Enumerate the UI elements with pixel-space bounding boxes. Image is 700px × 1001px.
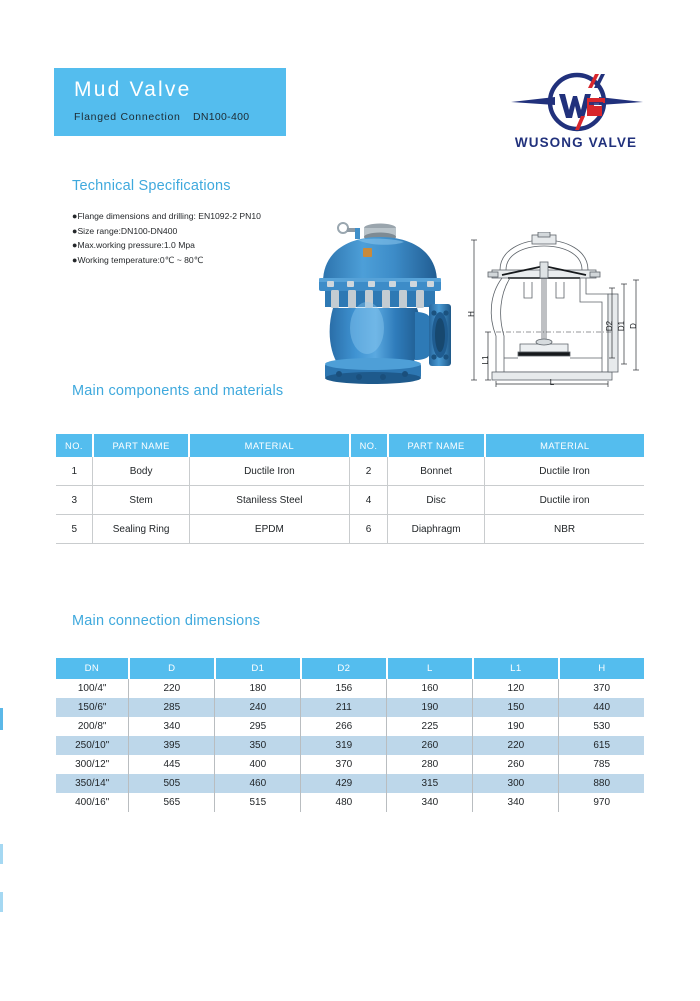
technical-drawing: H L1 L D2 D1 D <box>462 232 652 387</box>
cell-l: 315 <box>387 774 473 793</box>
product-photo <box>303 216 463 386</box>
col-header-d2: D2 <box>301 658 387 679</box>
dim-label-D2: D2 <box>605 320 614 331</box>
wusong-winged-circle-icon <box>509 72 645 134</box>
section-heading-dimensions: Main connection dimensions <box>72 613 260 629</box>
cell-h: 615 <box>559 736 644 755</box>
cell-l1: 260 <box>473 755 559 774</box>
cell-l: 225 <box>387 717 473 736</box>
table-row: 100/4" 220 180 156 160 120 370 <box>56 679 644 698</box>
cell-h: 970 <box>559 793 644 812</box>
dim-label-D: D <box>629 323 638 329</box>
product-title-banner: Mud Valve Flanged Connection DN100-400 <box>54 68 286 136</box>
cell-d1: 240 <box>215 698 301 717</box>
col-header-l: L <box>387 658 473 679</box>
cell-d1: 460 <box>215 774 301 793</box>
cell-d: 395 <box>129 736 215 755</box>
cell-no: 2 <box>350 457 388 486</box>
cell-l1: 300 <box>473 774 559 793</box>
datasheet-page: Mud Valve Flanged Connection DN100-400 W… <box>0 0 700 1001</box>
dimensions-table: DN D D1 D2 L L1 H 100/4" 220 180 156 160… <box>56 658 644 812</box>
dim-label-H: H <box>467 311 476 317</box>
cell-l1: 120 <box>473 679 559 698</box>
cell-d2: 319 <box>301 736 387 755</box>
table-row: 150/6" 285 240 211 190 150 440 <box>56 698 644 717</box>
col-header-part-right: PART NAME <box>388 434 485 457</box>
col-header-no-right: NO. <box>350 434 388 457</box>
table-row: 250/10" 395 350 319 260 220 615 <box>56 736 644 755</box>
cell-no: 1 <box>56 457 93 486</box>
cell-d: 445 <box>129 755 215 774</box>
edge-crop-mark <box>0 892 3 912</box>
cell-d1: 180 <box>215 679 301 698</box>
cell-dn: 400/16" <box>56 793 129 812</box>
company-logo: WUSONG VALVE <box>487 72 665 172</box>
product-title: Mud Valve <box>74 78 191 102</box>
cell-l: 160 <box>387 679 473 698</box>
cell-d1: 400 <box>215 755 301 774</box>
col-header-h: H <box>559 658 644 679</box>
col-header-material-right: MATERIAL <box>485 434 644 457</box>
cell-h: 530 <box>559 717 644 736</box>
table-row: 300/12" 445 400 370 280 260 785 <box>56 755 644 774</box>
cell-dn: 300/12" <box>56 755 129 774</box>
table-header-row: DN D D1 D2 L L1 H <box>56 658 644 679</box>
cell-dn: 250/10" <box>56 736 129 755</box>
cell-l1: 150 <box>473 698 559 717</box>
cell-part: Sealing Ring <box>93 515 189 544</box>
section-heading-technical: Technical Specifications <box>72 178 231 194</box>
cell-part: Stem <box>93 486 189 515</box>
col-header-dn: DN <box>56 658 129 679</box>
dim-label-L1: L1 <box>481 355 490 364</box>
dim-label-L: L <box>550 378 555 387</box>
cell-d2: 156 <box>301 679 387 698</box>
cell-material: Staniless Steel <box>189 486 349 515</box>
cell-h: 370 <box>559 679 644 698</box>
col-header-no-left: NO. <box>56 434 93 457</box>
cell-d2: 211 <box>301 698 387 717</box>
spec-text: Size range:DN100-DN400 <box>77 226 177 236</box>
col-header-d1: D1 <box>215 658 301 679</box>
cell-no: 4 <box>350 486 388 515</box>
cell-h: 440 <box>559 698 644 717</box>
cell-l: 260 <box>387 736 473 755</box>
cell-l: 340 <box>387 793 473 812</box>
col-header-l1: L1 <box>473 658 559 679</box>
cell-d: 505 <box>129 774 215 793</box>
cell-d1: 515 <box>215 793 301 812</box>
cell-material: Ductile Iron <box>485 457 644 486</box>
spec-text: Flange dimensions and drilling: EN1092-2… <box>77 211 260 221</box>
product-connection-type: Flanged Connection <box>74 111 181 123</box>
table-header-row: NO. PART NAME MATERIAL NO. PART NAME MAT… <box>56 434 644 457</box>
table-row: 400/16" 565 515 480 340 340 970 <box>56 793 644 812</box>
cell-dn: 150/6" <box>56 698 129 717</box>
cell-no: 5 <box>56 515 93 544</box>
cell-d1: 350 <box>215 736 301 755</box>
cell-d2: 480 <box>301 793 387 812</box>
product-size-range: DN100-400 <box>193 111 249 123</box>
cell-h: 880 <box>559 774 644 793</box>
cell-l1: 220 <box>473 736 559 755</box>
table-row: 5 Sealing Ring EPDM 6 Diaphragm NBR <box>56 515 644 544</box>
cell-part: Body <box>93 457 189 486</box>
col-header-material-left: MATERIAL <box>189 434 349 457</box>
cell-d: 220 <box>129 679 215 698</box>
edge-crop-mark <box>0 708 3 730</box>
company-name: WUSONG VALVE <box>487 135 665 150</box>
cell-d2: 370 <box>301 755 387 774</box>
cell-part: Disc <box>388 486 485 515</box>
cell-d2: 266 <box>301 717 387 736</box>
materials-table: NO. PART NAME MATERIAL NO. PART NAME MAT… <box>56 434 644 544</box>
cell-d: 340 <box>129 717 215 736</box>
dim-label-D1: D1 <box>617 320 626 331</box>
cell-material: NBR <box>485 515 644 544</box>
cell-dn: 350/14" <box>56 774 129 793</box>
section-heading-components: Main components and materials <box>72 383 283 399</box>
table-row: 1 Body Ductile Iron 2 Bonnet Ductile Iro… <box>56 457 644 486</box>
cell-material: Ductile Iron <box>189 457 349 486</box>
edge-crop-mark <box>0 844 3 864</box>
cell-d2: 429 <box>301 774 387 793</box>
cell-part: Bonnet <box>388 457 485 486</box>
cell-material: EPDM <box>189 515 349 544</box>
cell-d: 285 <box>129 698 215 717</box>
cell-l: 190 <box>387 698 473 717</box>
table-row: 3 Stem Staniless Steel 4 Disc Ductile ir… <box>56 486 644 515</box>
col-header-d: D <box>129 658 215 679</box>
cell-no: 3 <box>56 486 93 515</box>
cell-h: 785 <box>559 755 644 774</box>
cell-material: Ductile iron <box>485 486 644 515</box>
table-row: 350/14" 505 460 429 315 300 880 <box>56 774 644 793</box>
cell-dn: 200/8" <box>56 717 129 736</box>
cell-l1: 340 <box>473 793 559 812</box>
table-row: 200/8" 340 295 266 225 190 530 <box>56 717 644 736</box>
cell-no: 6 <box>350 515 388 544</box>
spec-text: Working temperature:0℃ ~ 80℃ <box>77 255 203 265</box>
cell-dn: 100/4" <box>56 679 129 698</box>
cell-part: Diaphragm <box>388 515 485 544</box>
spec-text: Max.working pressure:1.0 Mpa <box>77 240 195 250</box>
cell-l1: 190 <box>473 717 559 736</box>
cell-d: 565 <box>129 793 215 812</box>
col-header-part-left: PART NAME <box>93 434 189 457</box>
cell-l: 280 <box>387 755 473 774</box>
cell-d1: 295 <box>215 717 301 736</box>
